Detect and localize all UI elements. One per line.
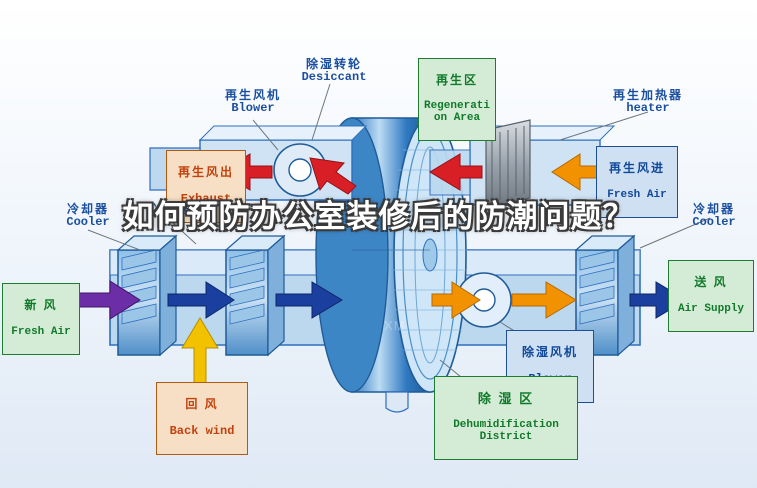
label-cooler-middle: 冷却器 [138, 203, 210, 216]
label-back-wind: 回 风 Back wind [156, 382, 248, 455]
label-desiccant-wheel: 除湿转轮 Desiccant [282, 58, 386, 85]
label-fresh-air-process: 新 风 Fresh Air [2, 283, 80, 355]
label-fresh-air-regeneration: 再生风进 Fresh Air [596, 146, 678, 218]
label-regeneration-heater: 再生加热器 heater [594, 89, 702, 116]
diagram-canvas: 除湿转轮 Desiccant 再生区 Regenerati on Area 再生… [0, 0, 757, 488]
label-cooler-right: 冷却器 Cooler [678, 203, 750, 230]
label-air-supply: 送 风 Air Supply [668, 260, 754, 332]
label-regeneration-blower: 再生风机 Blower [206, 89, 300, 116]
cooler-middle-unit [226, 236, 284, 355]
label-regeneration-area: 再生区 Regenerati on Area [418, 58, 496, 141]
label-cooler-left: 冷却器 Cooler [52, 203, 124, 230]
label-dehumidification-district: 除 湿 区 Dehumidification District [434, 376, 578, 460]
